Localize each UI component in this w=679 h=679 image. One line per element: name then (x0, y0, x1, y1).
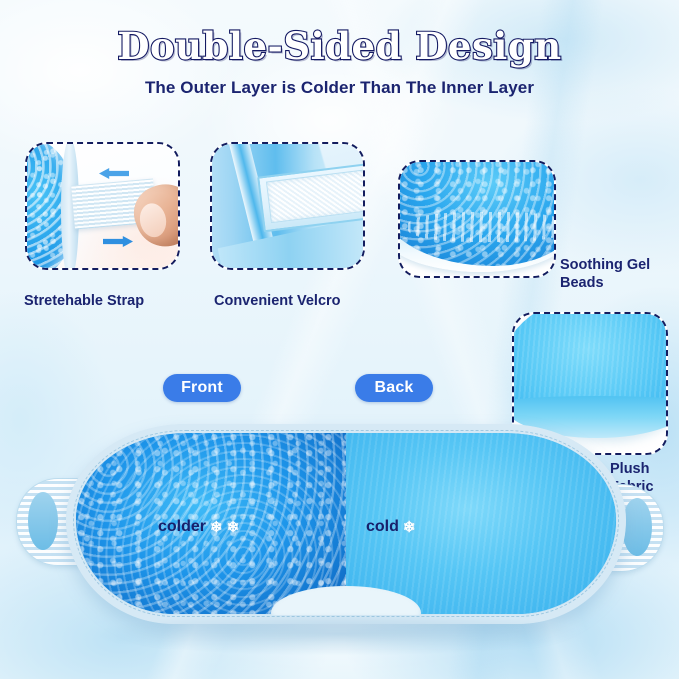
mask-body (66, 424, 626, 624)
snowflake-icon-single: ❄ (403, 520, 416, 535)
feature-caption-stretchable-strap: Stretehable Strap (24, 292, 194, 310)
mask-label-colder-text: colder (158, 518, 206, 536)
stretchable-strap-photo (27, 144, 178, 268)
title-container: Double-Sided Design (0, 24, 679, 68)
mask-label-colder: colder ❄ ❄ (158, 518, 239, 536)
fingernail (137, 201, 169, 239)
mask-drop-shadow (90, 612, 590, 656)
badge-front: Front (163, 374, 241, 402)
badge-back: Back (355, 374, 433, 402)
feature-panel-stretchable-strap (25, 142, 180, 270)
velcro-photo (212, 144, 363, 268)
eye-mask-product-photo (14, 420, 666, 642)
mask-label-cold: cold ❄ (366, 518, 415, 536)
strap-loop-left (28, 492, 58, 550)
feature-panel-soothing-gel-beads (398, 160, 556, 278)
infographic-canvas: Double-Sided Design The Outer Layer is C… (0, 0, 679, 679)
snowflake-icon-double: ❄ ❄ (210, 520, 239, 535)
page-title: Double-Sided Design (117, 24, 561, 68)
strap-loop-right (622, 498, 652, 556)
page-subtitle: The Outer Layer is Colder Than The Inner… (0, 78, 679, 98)
gel-beads-photo (400, 162, 554, 276)
feature-caption-soothing-gel-beads: Soothing Gel Beads (560, 256, 678, 292)
gel-bead-highlight-row (408, 212, 556, 242)
mask-label-cold-text: cold (366, 518, 399, 536)
feature-panel-convenient-velcro (210, 142, 365, 270)
feature-caption-convenient-velcro: Convenient Velcro (214, 292, 404, 310)
